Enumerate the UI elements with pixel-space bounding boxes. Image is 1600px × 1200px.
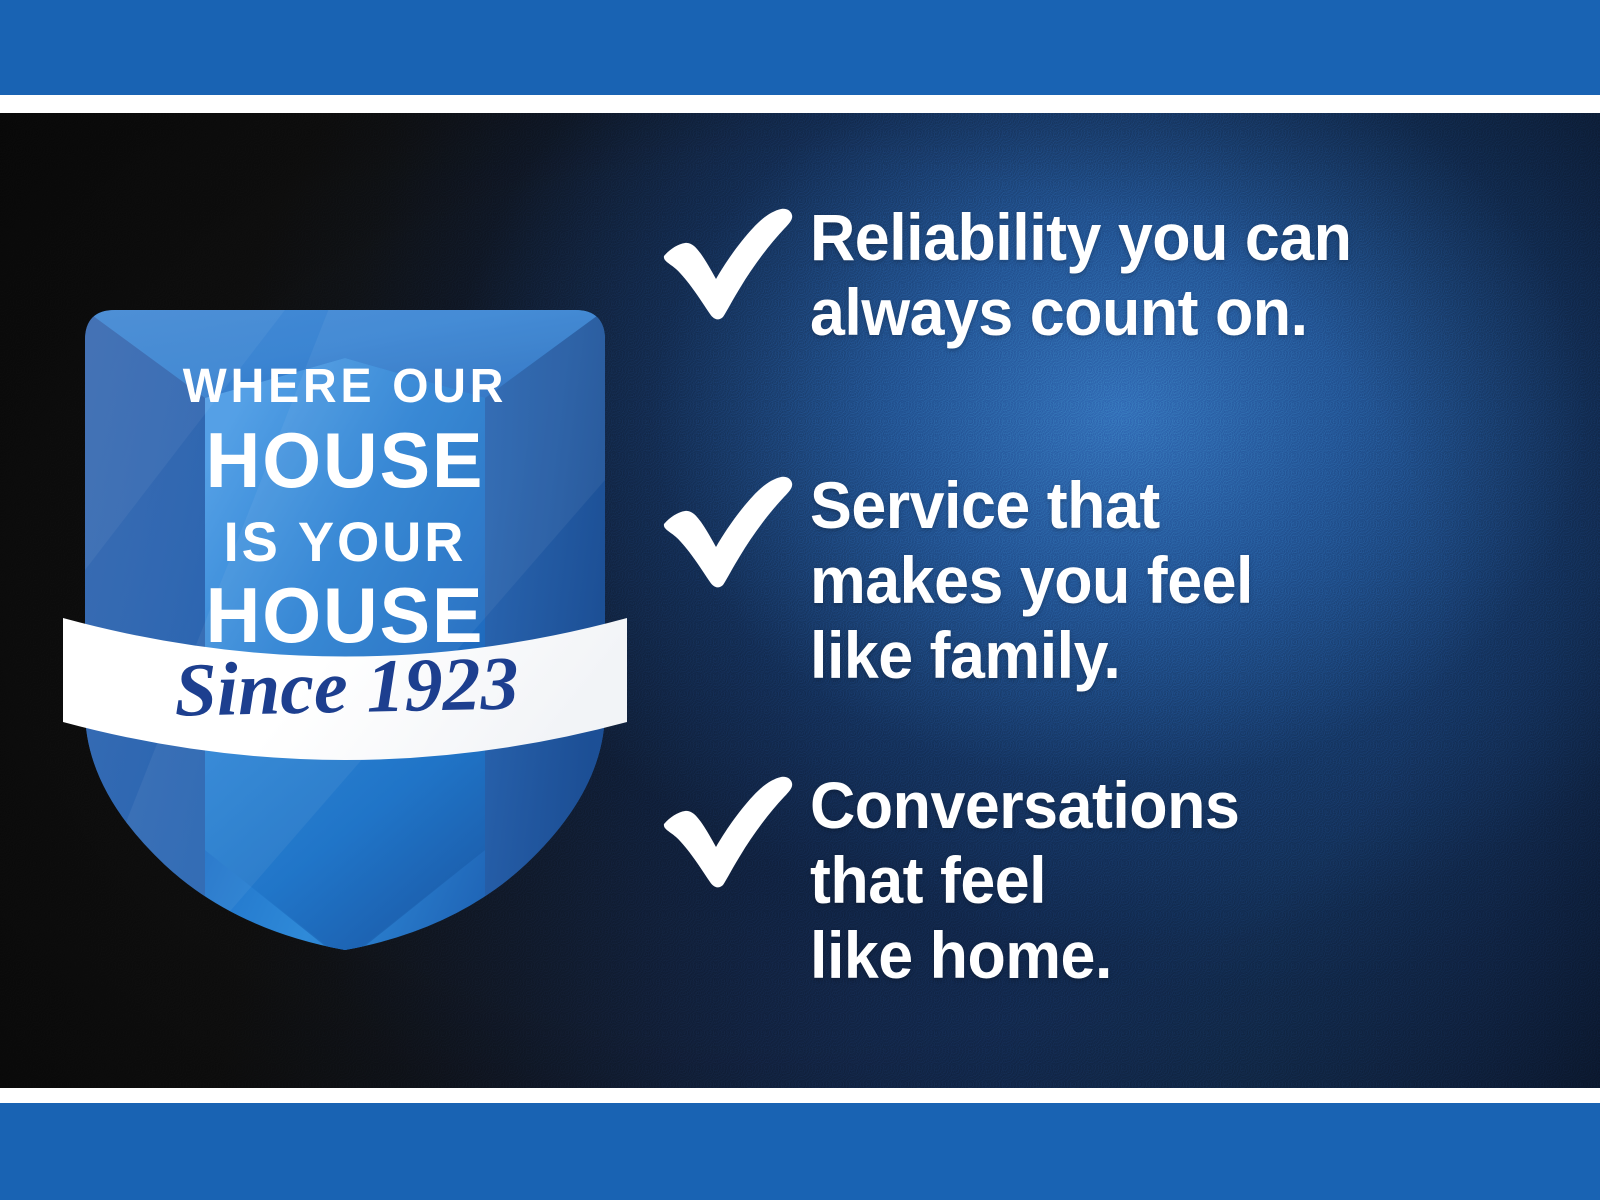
list-item-text: Conversations that feel like home.: [810, 768, 1523, 994]
list-item-text: Reliability you can always count on.: [810, 200, 1523, 350]
checkmark-icon: [660, 200, 810, 320]
top-accent-bar: [0, 0, 1600, 95]
list-item: Reliability you can always count on.: [660, 200, 1560, 350]
benefits-list: Reliability you can always count on. Ser…: [660, 90, 1560, 960]
list-item: Service that makes you feel like family.: [660, 468, 1560, 694]
bottom-accent-bar: [0, 1103, 1600, 1200]
shield-line-2: HOUSE: [206, 417, 485, 504]
checkmark-icon: [660, 468, 810, 588]
shield-line-3: IS YOUR: [224, 510, 467, 573]
checkmark-icon: [660, 768, 810, 888]
shield-line-1: WHERE OUR: [183, 359, 508, 413]
list-item: Conversations that feel like home.: [660, 768, 1560, 994]
shield-text: WHERE OUR HOUSE IS YOUR HOUSE: [183, 359, 508, 659]
promo-poster: WHERE OUR HOUSE IS YOUR HOUSE Since 1923…: [0, 0, 1600, 1200]
since-banner-text: Since 1923: [174, 641, 520, 732]
list-item-text: Service that makes you feel like family.: [810, 468, 1523, 694]
brand-shield-logo: WHERE OUR HOUSE IS YOUR HOUSE Since 1923: [55, 150, 635, 970]
